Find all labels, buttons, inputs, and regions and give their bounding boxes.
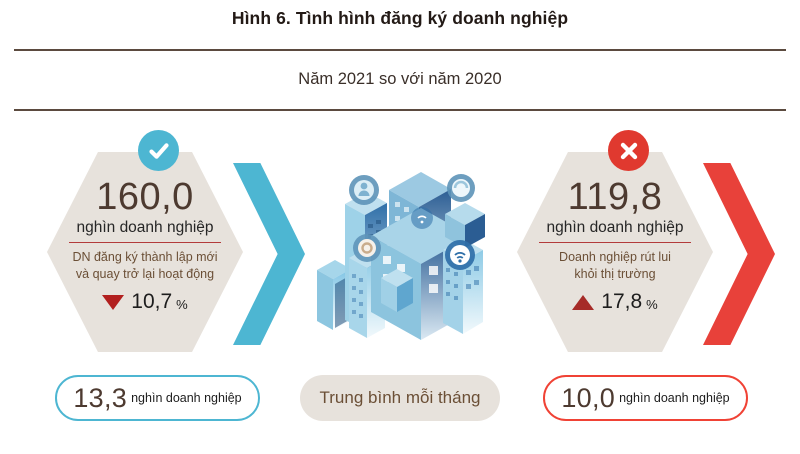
change-row-registered: 10,7 % — [102, 290, 187, 314]
chevron-arrow-red — [703, 163, 775, 345]
description-line2-withdrawn: khỏi thị trường — [574, 266, 655, 283]
percent-symbol-right: % — [646, 297, 658, 314]
badge-center-label: Trung bình mỗi tháng — [320, 388, 481, 408]
value-withdrawn: 119,8 — [568, 178, 663, 218]
description-line1-withdrawn: Doanh nghiệp rút lui — [559, 249, 671, 266]
panel-content-right: 119,8 nghìn doanh nghiệp Doanh nghiệp rú… — [517, 152, 713, 352]
page-title: Hình 6. Tình hình đăng ký doanh nghiệp — [0, 8, 800, 29]
badge-monthly-average-label: Trung bình mỗi tháng — [300, 375, 500, 421]
change-value-registered: 10,7 — [131, 290, 172, 314]
description-line2-registered: và quay trở lại hoạt động — [76, 266, 214, 283]
badge-right-value: 10,0 — [561, 383, 615, 414]
chevron-arrow-cyan — [233, 163, 305, 345]
panel-withdrawn: 119,8 nghìn doanh nghiệp Doanh nghiệp rú… — [500, 130, 800, 360]
panel-content-left: 160,0 nghìn doanh nghiệp DN đăng ký thàn… — [47, 152, 243, 352]
triangle-up-icon — [572, 295, 594, 310]
infographic-page: Hình 6. Tình hình đăng ký doanh nghiệp N… — [0, 0, 800, 454]
panel-registered: 160,0 nghìn doanh nghiệp DN đăng ký thàn… — [30, 130, 330, 360]
percent-symbol-left: % — [176, 297, 188, 314]
content-divider-left — [69, 242, 221, 244]
footer-badges: 13,3 nghìn doanh nghiệp Trung bình mỗi t… — [0, 375, 800, 423]
badge-monthly-withdrawn: 10,0 nghìn doanh nghiệp — [543, 375, 748, 421]
x-circle-icon — [608, 130, 649, 171]
unit-registered: nghìn doanh nghiệp — [76, 219, 213, 237]
badge-left-unit: nghìn doanh nghiệp — [131, 391, 242, 405]
description-line1-registered: DN đăng ký thành lập mới — [72, 249, 217, 266]
change-value-withdrawn: 17,8 — [601, 290, 642, 314]
check-circle-icon — [138, 130, 179, 171]
badge-left-value: 13,3 — [73, 383, 127, 414]
change-row-withdrawn: 17,8 % — [572, 290, 657, 314]
content-divider-right — [539, 242, 691, 244]
isometric-city-buildings-illustration — [305, 152, 495, 347]
divider-bottom — [14, 109, 786, 111]
badge-monthly-registered: 13,3 nghìn doanh nghiệp — [55, 375, 260, 421]
triangle-down-icon — [102, 295, 124, 310]
badge-right-unit: nghìn doanh nghiệp — [619, 391, 730, 405]
value-registered: 160,0 — [96, 178, 194, 218]
subtitle: Năm 2021 so với năm 2020 — [0, 70, 800, 89]
divider-top — [14, 49, 786, 51]
unit-withdrawn: nghìn doanh nghiệp — [546, 219, 683, 237]
